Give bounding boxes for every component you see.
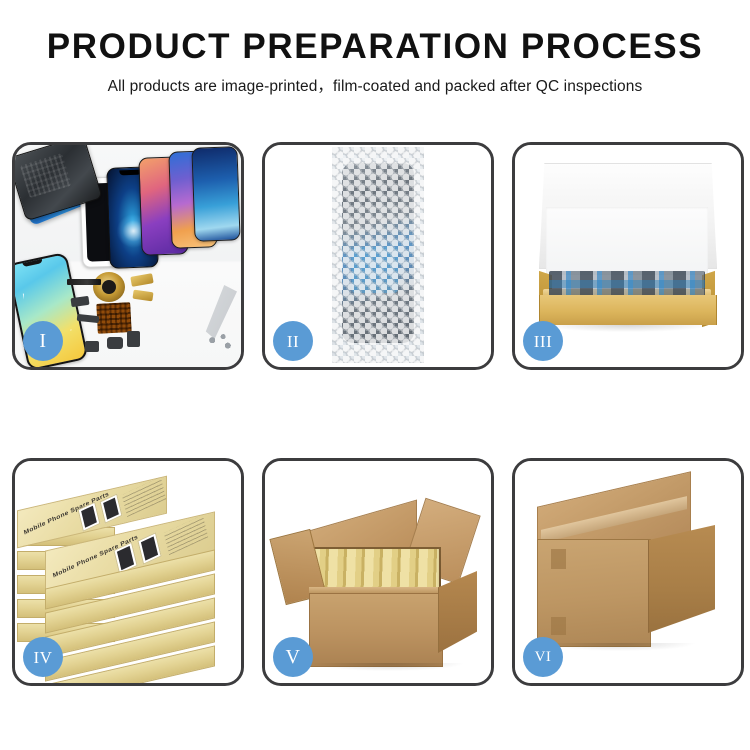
carton-seam-tab-icon [551,549,566,569]
step-panel-3: III [512,142,744,370]
step-badge-2: II [273,321,313,361]
step-panel-6: VI [512,458,744,686]
flex-cable-icon [67,279,101,285]
page-subtitle: All products are image-printed，film-coat… [0,75,750,99]
box-checklist-print [164,515,208,555]
box-shadow [545,325,709,332]
step-2-image: II [265,145,491,367]
step-panel-4: Mobile Phone Spare Parts Mobile Phone Sp… [12,458,244,686]
carton-front-panel-icon [309,593,443,667]
ic-chip-grid-icon [96,302,132,334]
process-step-grid: I II [12,142,738,702]
step-1-image: I [15,145,241,367]
product-preparation-page: PRODUCT PREPARATION PROCESS All products… [0,0,750,750]
step-badge-3: III [523,321,563,361]
step-badge-5: V [273,637,313,677]
step-panel-1: I [12,142,244,370]
carton-shadow [545,643,695,651]
screws-icon [207,333,233,351]
step-badge-6: VI [523,637,563,677]
page-title: PRODUCT PREPARATION PROCESS [0,26,750,68]
vibrator-icon [85,341,99,352]
foam-insert-icon [546,207,708,275]
phone-screen-wave-icon [191,146,240,242]
header: PRODUCT PREPARATION PROCESS All products… [0,26,750,99]
box-screen-print [137,532,161,565]
step-panel-5: V [262,458,494,686]
carton-seam-tab-icon [551,617,566,635]
battery-connector-icon [127,331,140,347]
camera-module-icon [107,337,123,349]
step-4-image: Mobile Phone Spare Parts Mobile Phone Sp… [15,461,241,683]
step-badge-1: I [23,321,63,361]
step-badge-4: IV [23,637,63,677]
carton-shadow [313,663,463,671]
step-5-image: V [265,461,491,683]
box-front-panel-icon [539,295,717,325]
step-3-image: III [515,145,741,367]
step-panel-2: II [262,142,494,370]
step-6-image: VI [515,461,741,683]
speaker-coil-icon [93,272,125,302]
box-checklist-print [122,477,166,517]
bubble-highlight-layer [332,147,424,363]
